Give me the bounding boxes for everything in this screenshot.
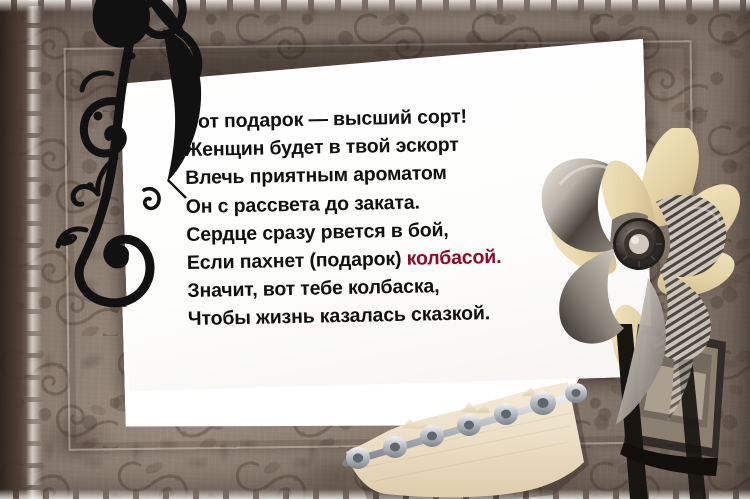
poem-text-block: Вот подарок — высший сорт! Женщин будет … xyxy=(184,100,608,334)
frame-torn-left-edge xyxy=(26,0,42,499)
frame-torn-top-edge xyxy=(0,0,750,12)
poem-highlight-word: колбасой. xyxy=(406,246,501,270)
poem-line-6-text: Если пахнет (подарок) xyxy=(187,248,407,274)
greeting-card-image: Вот подарок — высший сорт! Женщин будет … xyxy=(0,0,750,499)
torn-paper-tag xyxy=(340,368,670,499)
